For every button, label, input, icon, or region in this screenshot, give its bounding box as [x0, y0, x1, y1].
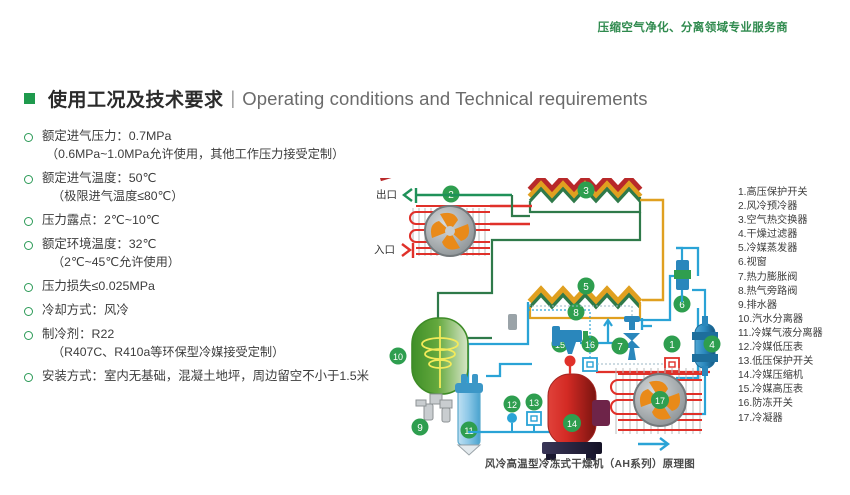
- outlet-label: 出口: [376, 187, 397, 202]
- badge-11: 11: [461, 422, 478, 439]
- svg-text:10: 10: [393, 352, 403, 362]
- legend-item: 3.空气热交换器: [738, 214, 823, 228]
- spec-main-text: 安装方式：室内无基础，混凝土地坪，周边留空不小于1.5米: [42, 368, 369, 385]
- bullet-circle-icon: [24, 217, 33, 226]
- water-separator: [412, 318, 468, 394]
- badge-12: 12: [504, 396, 521, 413]
- spec-main-text: 制冷剂：R22: [42, 326, 114, 343]
- slide-page: 压缩空气净化、分离领域专业服务商 使用工况及技术要求 | Operating c…: [0, 0, 850, 495]
- bullet-circle-icon: [24, 175, 33, 184]
- legend-item: 16.防冻开关: [738, 397, 823, 411]
- spec-main-text: 额定环境温度：32℃: [42, 236, 156, 253]
- spec-list: 额定进气压力：0.7MPa （0.6MPa~1.0MPa允许使用，其他工作压力接…: [24, 128, 374, 392]
- component-legend: 1.高压保护开关 2.风冷预冷器 3.空气热交换器 4.干燥过滤器 5.冷媒蒸发…: [738, 186, 823, 426]
- spec-main-text: 冷却方式：风冷: [42, 302, 129, 319]
- diagram-caption: 风冷高温型冷冻式干燥机（AH系列）原理图: [455, 456, 725, 471]
- high-pressure-gauge: [565, 356, 576, 375]
- spec-main-text: 压力露点：2℃~10℃: [42, 212, 160, 229]
- legend-item: 7.热力膨胀阀: [738, 271, 823, 285]
- badge-9: 9: [412, 419, 429, 436]
- page-title-en: Operating conditions and Technical requi…: [242, 88, 647, 110]
- precooler-unit: [410, 206, 490, 256]
- legend-item: 2.风冷预冷器: [738, 200, 823, 214]
- badge-13: 13: [526, 394, 543, 411]
- legend-item: 1.高压保护开关: [738, 186, 823, 200]
- list-item: 压力损失≤0.025MPa: [24, 278, 374, 295]
- badge-3: 3: [578, 182, 595, 199]
- legend-item: 17.冷凝器: [738, 412, 823, 426]
- legend-item: 5.冷媒蒸发器: [738, 242, 823, 256]
- gas-liquid-separator: [455, 374, 483, 455]
- legend-item: 15.冷媒高压表: [738, 383, 823, 397]
- spec-main-text: 压力损失≤0.025MPa: [42, 278, 155, 295]
- svg-text:8: 8: [573, 308, 579, 319]
- legend-item: 12.冷媒低压表: [738, 341, 823, 355]
- airflow-arrow-icon: [638, 438, 668, 450]
- bullet-circle-icon: [24, 283, 33, 292]
- sight-glass: [674, 260, 691, 290]
- inlet-port: [402, 243, 413, 258]
- legend-item: 9.排水器: [738, 299, 823, 313]
- brand-tagline: 压缩空气净化、分离领域专业服务商: [598, 19, 788, 35]
- spec-sub-text: （R407C、R410a等环保型冷媒接受定制）: [52, 344, 374, 361]
- bullet-circle-icon: [24, 331, 33, 340]
- spec-main-text: 额定进气温度：50℃: [42, 170, 156, 187]
- svg-text:5: 5: [583, 282, 589, 293]
- spec-sub-text: （极限进气温度≤80℃）: [52, 188, 374, 205]
- list-item: 额定进气压力：0.7MPa （0.6MPa~1.0MPa允许使用，其他工作压力接…: [24, 128, 374, 163]
- page-title-cn: 使用工况及技术要求: [48, 85, 224, 112]
- svg-text:14: 14: [567, 419, 577, 429]
- inlet-label: 入口: [374, 242, 395, 257]
- svg-text:17: 17: [655, 396, 665, 406]
- list-item: 安装方式：室内无基础，混凝土地坪，周边留空不小于1.5米: [24, 368, 374, 385]
- page-title: 使用工况及技术要求 | Operating conditions and Tec…: [24, 85, 648, 112]
- antifreeze-switch: [583, 358, 597, 371]
- svg-text:9: 9: [417, 423, 423, 434]
- svg-text:1: 1: [669, 340, 675, 351]
- auto-drain: [416, 394, 452, 422]
- low-pressure-gauge: [507, 413, 517, 432]
- svg-text:7: 7: [617, 342, 623, 353]
- legend-item: 13.低压保护开关: [738, 355, 823, 369]
- bullet-circle-icon: [24, 307, 33, 316]
- legend-item: 6.视窗: [738, 256, 823, 270]
- list-item: 额定进气温度：50℃ （极限进气温度≤80℃）: [24, 170, 374, 205]
- spec-sub-text: （0.6MPa~1.0MPa允许使用，其他工作压力接受定制）: [46, 146, 374, 163]
- list-item: 压力露点：2℃~10℃: [24, 212, 374, 229]
- legend-item: 11.冷媒气液分离器: [738, 327, 823, 341]
- svg-text:13: 13: [529, 398, 539, 408]
- badge-5: 5: [578, 278, 595, 295]
- list-item: 额定环境温度：32℃ （2℃~45℃允许使用）: [24, 236, 374, 271]
- badge-1: 1: [664, 336, 681, 353]
- legend-item: 4.干燥过滤器: [738, 228, 823, 242]
- badge-14: 14: [563, 414, 581, 432]
- low-pressure-switch: [527, 412, 541, 432]
- svg-text:4: 4: [709, 340, 715, 351]
- legend-item: 10.汽水分离器: [738, 313, 823, 327]
- badge-4: 4: [704, 336, 721, 353]
- legend-item: 14.冷媒压缩机: [738, 369, 823, 383]
- spec-main-text: 额定进气压力：0.7MPa: [42, 128, 171, 145]
- svg-text:12: 12: [507, 400, 517, 410]
- title-separator: |: [231, 88, 236, 109]
- legend-item: 8.热气旁路阀: [738, 285, 823, 299]
- badge-10: 10: [390, 348, 407, 365]
- schematic-diagram: 2: [380, 178, 730, 463]
- list-item: 冷却方式：风冷: [24, 302, 374, 319]
- bullet-circle-icon: [24, 373, 33, 382]
- bullet-circle-icon: [24, 241, 33, 250]
- spec-sub-text: （2℃~45℃允许使用）: [52, 254, 374, 271]
- bullet-circle-icon: [24, 133, 33, 142]
- square-marker-icon: [24, 93, 35, 104]
- svg-text:3: 3: [583, 186, 589, 197]
- list-item: 制冷剂：R22 （R407C、R410a等环保型冷媒接受定制）: [24, 326, 374, 361]
